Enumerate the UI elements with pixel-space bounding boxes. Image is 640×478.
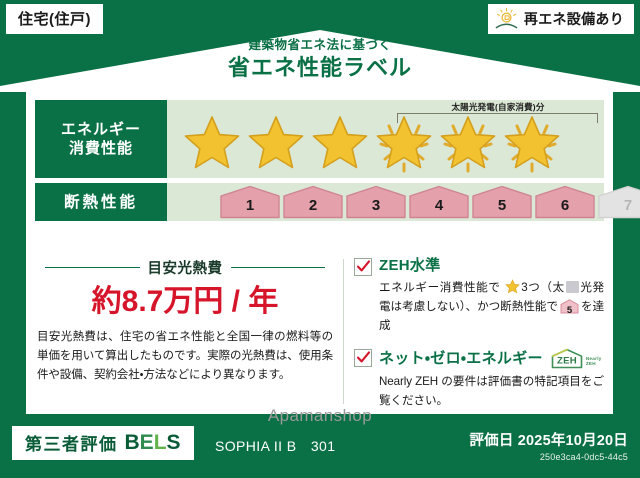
- bels-logo: BELS: [125, 431, 181, 455]
- insulation-grade-number: 1: [219, 197, 281, 214]
- net-zero-energy-title: ネット・ゼロ・エネルギー ZEH Nearly ZEH: [379, 348, 604, 369]
- insulation-grade-number: 7: [597, 197, 640, 214]
- renewable-tag-label: 再エネ設備あり: [524, 9, 624, 29]
- net-zero-energy-body: Nearly ZEH の要件は評価書の特記項目をご覧ください。: [379, 372, 604, 410]
- watermark: Apamanshop: [0, 406, 640, 426]
- zeh-body-part1: エネルギー消費性能で: [379, 281, 500, 294]
- energy-star-rating: [181, 113, 598, 175]
- performance-section: エネルギー 消費性能 太陽光発電(自家消費)分 断熱性能 1234567: [35, 100, 604, 226]
- star-icon-solar: [373, 114, 435, 174]
- utility-cost-section: 目安光熱費 約8.7万円 / 年 目安光熱費は、住宅の省エネ性能と全国一律の燃料…: [35, 255, 335, 410]
- zeh-house-icon: ZEH: [550, 348, 584, 369]
- zeh-standard-check: ZEH水準 エネルギー消費性能で 3つ（太光発電は考慮しない）、かつ断熱性能で …: [354, 257, 604, 335]
- insulation-grade-2: 2: [282, 185, 344, 219]
- certification-section: ZEH水準 エネルギー消費性能で 3つ（太光発電は考慮しない）、かつ断熱性能で …: [354, 255, 604, 410]
- bels-badge: 第三者評価 BELS: [12, 426, 194, 460]
- insulation-grade-number: 6: [534, 197, 596, 214]
- heading-rule-left: [45, 267, 140, 268]
- star-icon-solar: [437, 114, 499, 174]
- footer-bar: 第三者評価 BELS SOPHIA II B 301 評価日 2025年10月2…: [0, 420, 640, 478]
- bels-energy-label: 建築物省エネ法に基づく 省エネ性能ラベル 住宅(住戸) 再エネ設備あり: [0, 0, 640, 478]
- zeh-sub-line2: ZEH: [586, 361, 596, 366]
- utility-cost-heading: 目安光熱費: [35, 257, 335, 278]
- checkbox-checked-icon: [354, 258, 372, 276]
- checkbox-checked-icon-2: [354, 349, 372, 367]
- third-party-eval-label: 第三者評価: [25, 430, 118, 455]
- energy-performance-label: エネルギー 消費性能: [35, 100, 167, 178]
- insulation-performance-value: 1234567: [167, 183, 604, 221]
- house-badge-icon: 5: [560, 299, 579, 314]
- energy-label-line2: 消費性能: [69, 139, 133, 158]
- insulation-performance-label: 断熱性能: [35, 183, 167, 221]
- energy-performance-row: エネルギー 消費性能 太陽光発電(自家消費)分: [35, 100, 604, 178]
- house-type-tag: 住宅(住戸): [6, 4, 103, 34]
- insulation-grade-5: 5: [471, 185, 533, 219]
- energy-label-line1: エネルギー: [61, 120, 141, 139]
- insulation-grade-number: 5: [471, 197, 533, 214]
- insulation-grade-scale: 1234567: [219, 185, 640, 219]
- star-icon-base: [181, 114, 243, 174]
- insulation-grade-7: 7: [597, 185, 640, 219]
- utility-cost-heading-text: 目安光熱費: [148, 257, 223, 278]
- evaluation-info: 評価日 2025年10月20日 250e3ca4-0dc5-44c5: [469, 429, 628, 462]
- net-zero-energy-check: ネット・ゼロ・エネルギー ZEH Nearly ZEH: [354, 348, 604, 410]
- redacted-character: [566, 281, 579, 293]
- zeh-logo: ZEH Nearly ZEH: [550, 348, 602, 369]
- column-divider: [343, 259, 344, 404]
- renewable-equipment-tag: 再エネ設備あり: [488, 4, 634, 34]
- roof-shape: [0, 30, 640, 92]
- sun-icon: [494, 7, 519, 31]
- solar-portion-note: 太陽光発電(自家消費)分: [398, 102, 598, 112]
- evaluation-id: 250e3ca4-0dc5-44c5: [469, 452, 628, 462]
- zeh-standard-body: エネルギー消費性能で 3つ（太光発電は考慮しない）、かつ断熱性能で 5 を達成: [379, 278, 604, 335]
- house-badge-number: 5: [560, 301, 579, 320]
- insulation-performance-row: 断熱性能 1234567: [35, 183, 604, 221]
- utility-cost-value: 約8.7万円 / 年: [35, 285, 335, 319]
- details-columns: 目安光熱費 約8.7万円 / 年 目安光熱費は、住宅の省エネ性能と全国一律の燃料…: [35, 255, 604, 410]
- star-icon-solar: [501, 114, 563, 174]
- zeh-logo-subtext: Nearly ZEH: [586, 356, 602, 369]
- heading-rule-right: [231, 267, 326, 268]
- insulation-grade-number: 2: [282, 197, 344, 214]
- star-icon: [505, 279, 520, 294]
- insulation-grade-6: 6: [534, 185, 596, 219]
- star-icon-base: [309, 114, 371, 174]
- utility-cost-note: 目安光熱費は、住宅の省エネ性能と全国一律の燃料等の単価を用いて算出したものです。…: [35, 328, 335, 385]
- zeh-standard-title: ZEH水準: [379, 257, 604, 275]
- building-name: SOPHIA II B 301: [215, 436, 335, 456]
- insulation-grade-1: 1: [219, 185, 281, 219]
- label-body-panel: エネルギー 消費性能 太陽光発電(自家消費)分 断熱性能 1234567: [26, 92, 613, 414]
- insulation-grade-number: 3: [345, 197, 407, 214]
- star-icon-base: [245, 114, 307, 174]
- svg-text:ZEH: ZEH: [557, 356, 577, 367]
- insulation-grade-number: 4: [408, 197, 470, 214]
- zeh-body-part2: 3つ（太: [521, 281, 564, 294]
- insulation-grade-4: 4: [408, 185, 470, 219]
- insulation-grade-3: 3: [345, 185, 407, 219]
- energy-performance-value: 太陽光発電(自家消費)分: [167, 100, 604, 178]
- net-zero-title-text: ネット・ゼロ・エネルギー: [379, 350, 543, 368]
- evaluation-date: 評価日 2025年10月20日: [469, 429, 628, 450]
